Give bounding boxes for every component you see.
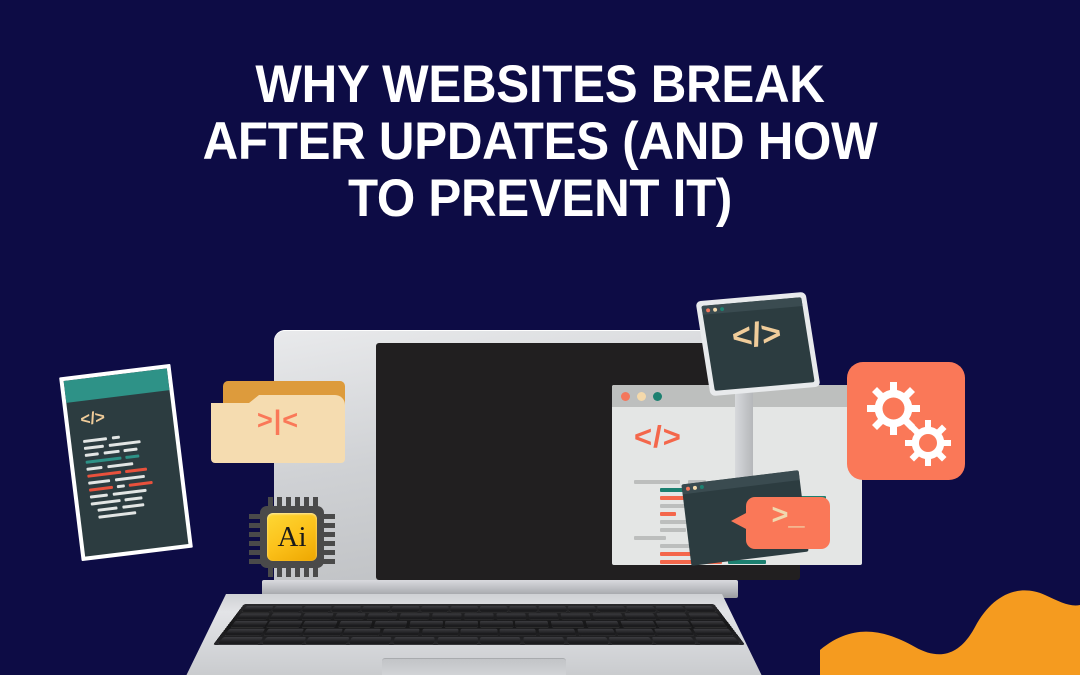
- maximize-dot-icon[interactable]: [653, 392, 662, 401]
- chip-pin: [323, 559, 335, 564]
- maximize-dot-icon: [720, 306, 725, 310]
- minimize-dot-icon: [713, 307, 718, 311]
- laptop-trackpad[interactable]: [382, 658, 566, 675]
- title-line-2: AFTER UPDATES (AND HOW: [38, 113, 1042, 170]
- keyboard-key[interactable]: [391, 606, 419, 612]
- code-card-screen: </>: [64, 368, 189, 556]
- keyboard-row[interactable]: [225, 629, 734, 636]
- keyboard-key[interactable]: [528, 613, 559, 619]
- gears-icon: [847, 362, 965, 480]
- keyboard-key[interactable]: [272, 606, 302, 612]
- title-line-3: TO PREVENT IT): [38, 170, 1042, 227]
- keyboard-key[interactable]: [242, 606, 273, 612]
- keyboard-key[interactable]: [592, 613, 624, 619]
- keyboard-key[interactable]: [656, 613, 689, 619]
- maximize-dot-icon: [700, 485, 704, 489]
- page-title: WHY WEBSITES BREAK AFTER UPDATES (AND HO…: [0, 56, 1080, 227]
- keyboard-key[interactable]: [654, 629, 694, 636]
- keyboard-key[interactable]: [399, 613, 430, 619]
- minimize-dot-icon[interactable]: [637, 392, 646, 401]
- minimize-dot-icon: [693, 486, 697, 490]
- keyboard-key[interactable]: [302, 621, 338, 627]
- keyboard-key[interactable]: [577, 629, 616, 636]
- keyboard-key[interactable]: [225, 629, 266, 636]
- keyboard-key[interactable]: [585, 621, 620, 627]
- monitor-frame: </>: [696, 292, 821, 396]
- title-line-1: WHY WEBSITES BREAK: [38, 56, 1042, 113]
- keyboard-key[interactable]: [655, 621, 691, 627]
- ai-chip-icon: Ai: [248, 497, 336, 577]
- keyboard-key[interactable]: [382, 629, 420, 636]
- terminal-prompt-label: >_: [746, 501, 830, 530]
- chip-label: Ai: [267, 513, 317, 561]
- keyboard-key[interactable]: [496, 613, 526, 619]
- keyboard-key[interactable]: [539, 606, 567, 612]
- keyboard-key[interactable]: [409, 621, 443, 627]
- close-dot-icon[interactable]: [621, 392, 630, 401]
- chip-pin: [323, 523, 335, 528]
- keyboard-key[interactable]: [615, 629, 654, 636]
- keyboard-key[interactable]: [338, 621, 373, 627]
- keyboard-key[interactable]: [480, 621, 513, 627]
- keyboard-key[interactable]: [695, 637, 740, 644]
- keyboard-key[interactable]: [302, 613, 335, 619]
- keyboard-key[interactable]: [523, 637, 565, 644]
- keyboard-key[interactable]: [480, 606, 507, 612]
- keyboard-row[interactable]: [218, 637, 740, 644]
- keyboard-key[interactable]: [688, 613, 722, 619]
- keyboard-key[interactable]: [349, 637, 392, 644]
- keyboard-key[interactable]: [566, 637, 609, 644]
- code-card: </>: [59, 364, 193, 561]
- keyboard-key[interactable]: [445, 621, 478, 627]
- monitor-screen: </>: [701, 297, 814, 391]
- keyboard-key[interactable]: [343, 629, 382, 636]
- keyboard-key[interactable]: [597, 606, 626, 612]
- monitor-code-logo: </>: [704, 314, 809, 356]
- keyboard-key[interactable]: [464, 613, 494, 619]
- keyboard-key[interactable]: [480, 637, 521, 644]
- gears-glyph: [847, 362, 965, 480]
- keyboard-key[interactable]: [515, 621, 549, 627]
- keyboard-key[interactable]: [218, 637, 263, 644]
- keyboard-key[interactable]: [306, 637, 350, 644]
- keyboard-key[interactable]: [609, 637, 653, 644]
- keyboard-key[interactable]: [231, 621, 268, 627]
- chip-pin: [323, 514, 335, 519]
- keyboard-row[interactable]: [231, 621, 728, 627]
- keyboard-key[interactable]: [303, 629, 342, 636]
- keyboard-key[interactable]: [685, 606, 716, 612]
- close-dot-icon: [686, 486, 690, 490]
- keyboard-key[interactable]: [393, 637, 435, 644]
- keyboard-key[interactable]: [331, 606, 360, 612]
- monitor-titlebar: [701, 297, 802, 315]
- laptop-keyboard[interactable]: [213, 604, 745, 645]
- keyboard-key[interactable]: [373, 621, 407, 627]
- keyboard-key[interactable]: [461, 629, 498, 636]
- chip-pin: [323, 550, 335, 555]
- keyboard-key[interactable]: [437, 637, 478, 644]
- keyboard-key[interactable]: [421, 606, 449, 612]
- keyboard-key[interactable]: [500, 629, 537, 636]
- keyboard-key[interactable]: [334, 613, 366, 619]
- keyboard-row[interactable]: [242, 606, 716, 612]
- keyboard-key[interactable]: [451, 606, 478, 612]
- keyboard-key[interactable]: [421, 629, 458, 636]
- keyboard-key[interactable]: [361, 606, 390, 612]
- keyboard-key[interactable]: [432, 613, 462, 619]
- keyboard-key[interactable]: [620, 621, 656, 627]
- poster-canvas: WHY WEBSITES BREAK AFTER UPDATES (AND HO…: [0, 0, 1080, 675]
- orange-corner-wave: [820, 555, 1080, 675]
- keyboard-key[interactable]: [302, 606, 332, 612]
- keyboard-key[interactable]: [652, 637, 696, 644]
- keyboard-key[interactable]: [626, 606, 656, 612]
- keyboard-key[interactable]: [693, 629, 734, 636]
- code-card-lines: [82, 422, 180, 516]
- keyboard-key[interactable]: [269, 613, 302, 619]
- keyboard-key[interactable]: [509, 606, 537, 612]
- keyboard-row[interactable]: [237, 613, 722, 619]
- keyboard-key[interactable]: [624, 613, 657, 619]
- monitor-code-icon: </>: [696, 292, 821, 396]
- keyboard-key[interactable]: [237, 613, 271, 619]
- keyboard-key[interactable]: [690, 621, 727, 627]
- keyboard-key[interactable]: [266, 621, 302, 627]
- keyboard-key[interactable]: [550, 621, 584, 627]
- close-dot-icon: [706, 308, 711, 312]
- keyboard-key[interactable]: [656, 606, 686, 612]
- chip-pin: [323, 541, 335, 546]
- keyboard-key[interactable]: [538, 629, 576, 636]
- keyboard-key[interactable]: [367, 613, 398, 619]
- terminal-bubble-icon: >_: [746, 497, 830, 549]
- keyboard-key[interactable]: [568, 606, 597, 612]
- chip-pin: [323, 532, 335, 537]
- keyboard-key[interactable]: [262, 637, 306, 644]
- folder-icon: >|<: [211, 381, 345, 463]
- folder-label: >|<: [211, 405, 345, 436]
- keyboard-key[interactable]: [560, 613, 591, 619]
- keyboard-key[interactable]: [264, 629, 304, 636]
